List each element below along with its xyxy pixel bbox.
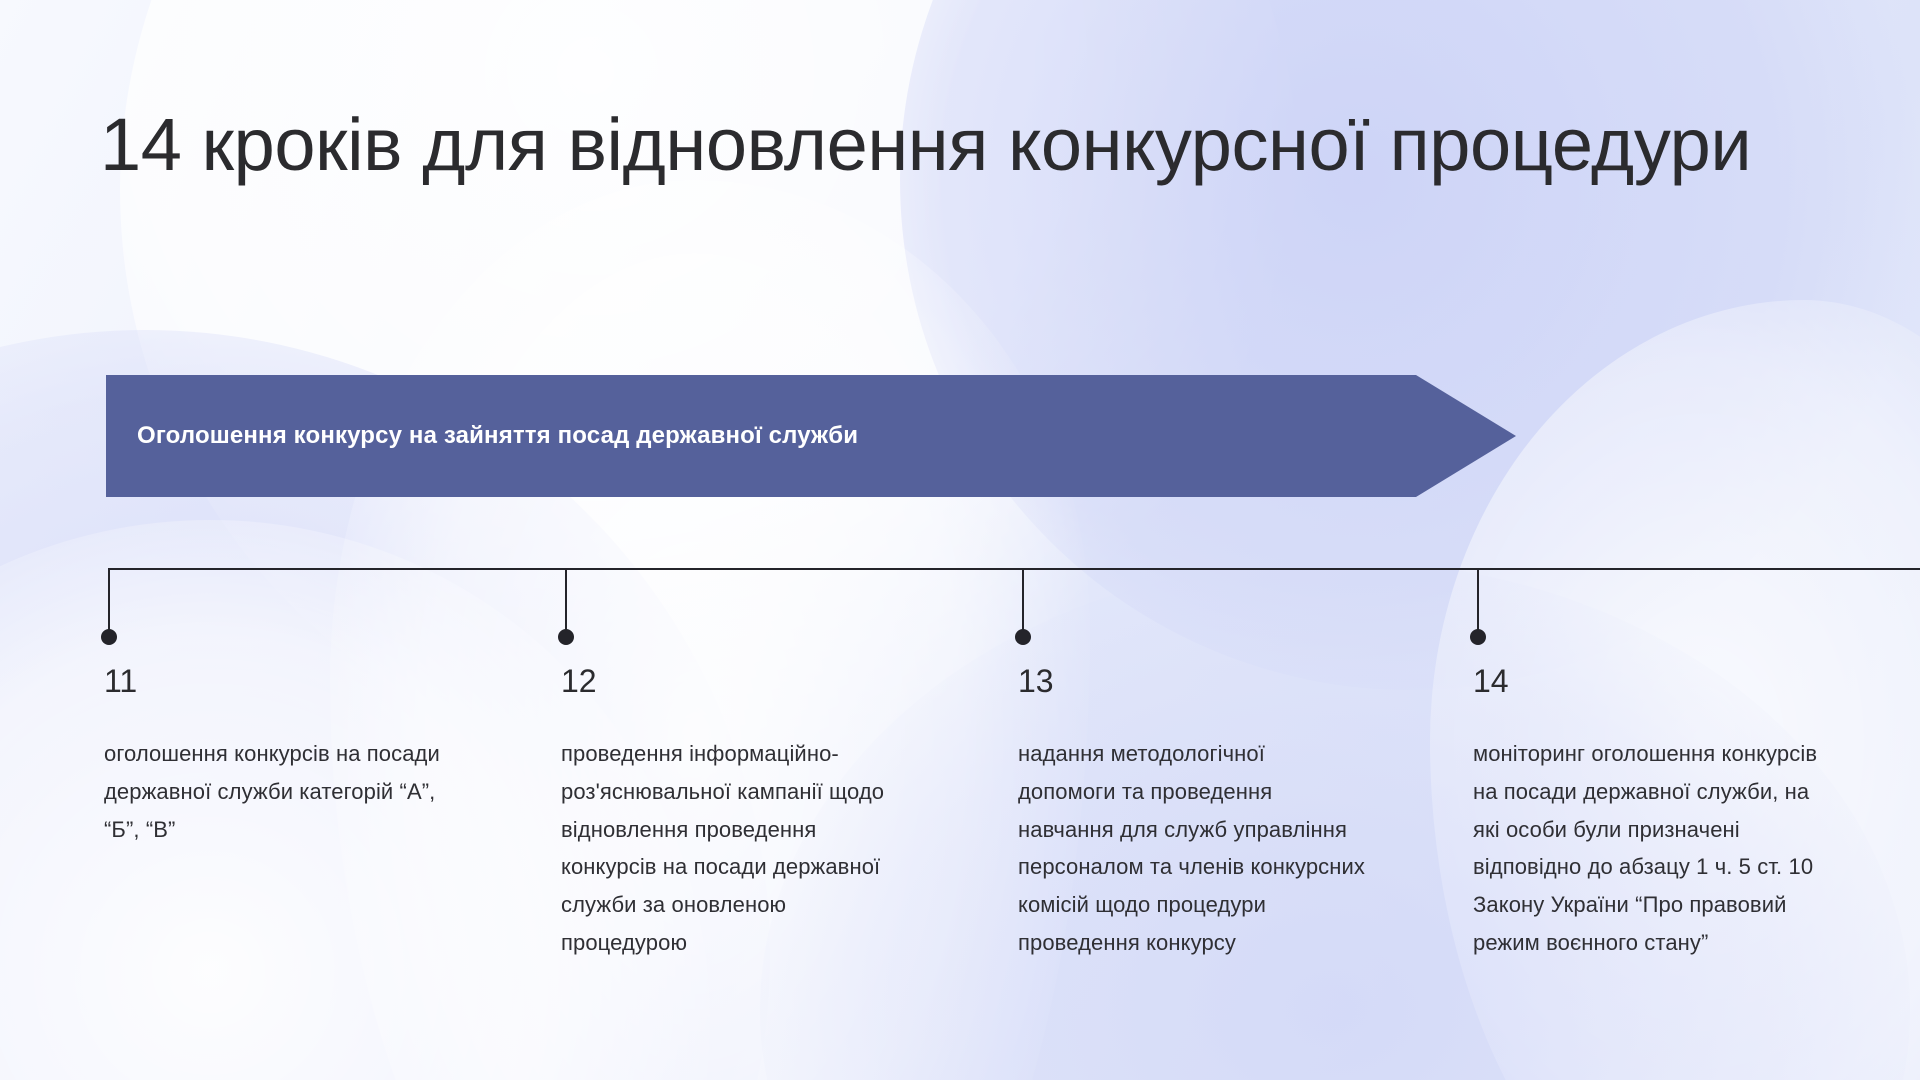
timeline-connector-line	[108, 568, 110, 631]
timeline-dot-icon	[1015, 629, 1031, 645]
timeline-step-description: надання методологічної допомоги та прове…	[1018, 735, 1366, 962]
timeline-step-number: 13	[1018, 665, 1054, 697]
timeline-step-description: проведення інформаційно-роз'яснювальної …	[561, 735, 909, 962]
page-title: 14 кроків для відновлення конкурсної про…	[100, 94, 1860, 196]
timeline-step-number: 12	[561, 665, 597, 697]
slide-canvas: 14 кроків для відновлення конкурсної про…	[0, 0, 1920, 1080]
timeline-connector-line	[1477, 568, 1479, 631]
timeline-dot-icon	[1470, 629, 1486, 645]
section-banner-label: Оголошення конкурсу на зайняття посад де…	[137, 422, 858, 450]
timeline-step-description: оголошення конкурсів на посади державної…	[104, 735, 452, 848]
timeline-connector-line	[565, 568, 567, 631]
timeline-connector-line	[1022, 568, 1024, 631]
timeline: 11 оголошення конкурсів на посади держав…	[0, 568, 1920, 1080]
timeline-dot-icon	[101, 629, 117, 645]
timeline-step-number: 14	[1473, 665, 1509, 697]
timeline-dot-icon	[558, 629, 574, 645]
timeline-step-number: 11	[104, 665, 137, 697]
timeline-step-description: моніторинг оголошення конкурсів на посад…	[1473, 735, 1831, 962]
section-banner-arrow: Оголошення конкурсу на зайняття посад де…	[106, 375, 1516, 497]
